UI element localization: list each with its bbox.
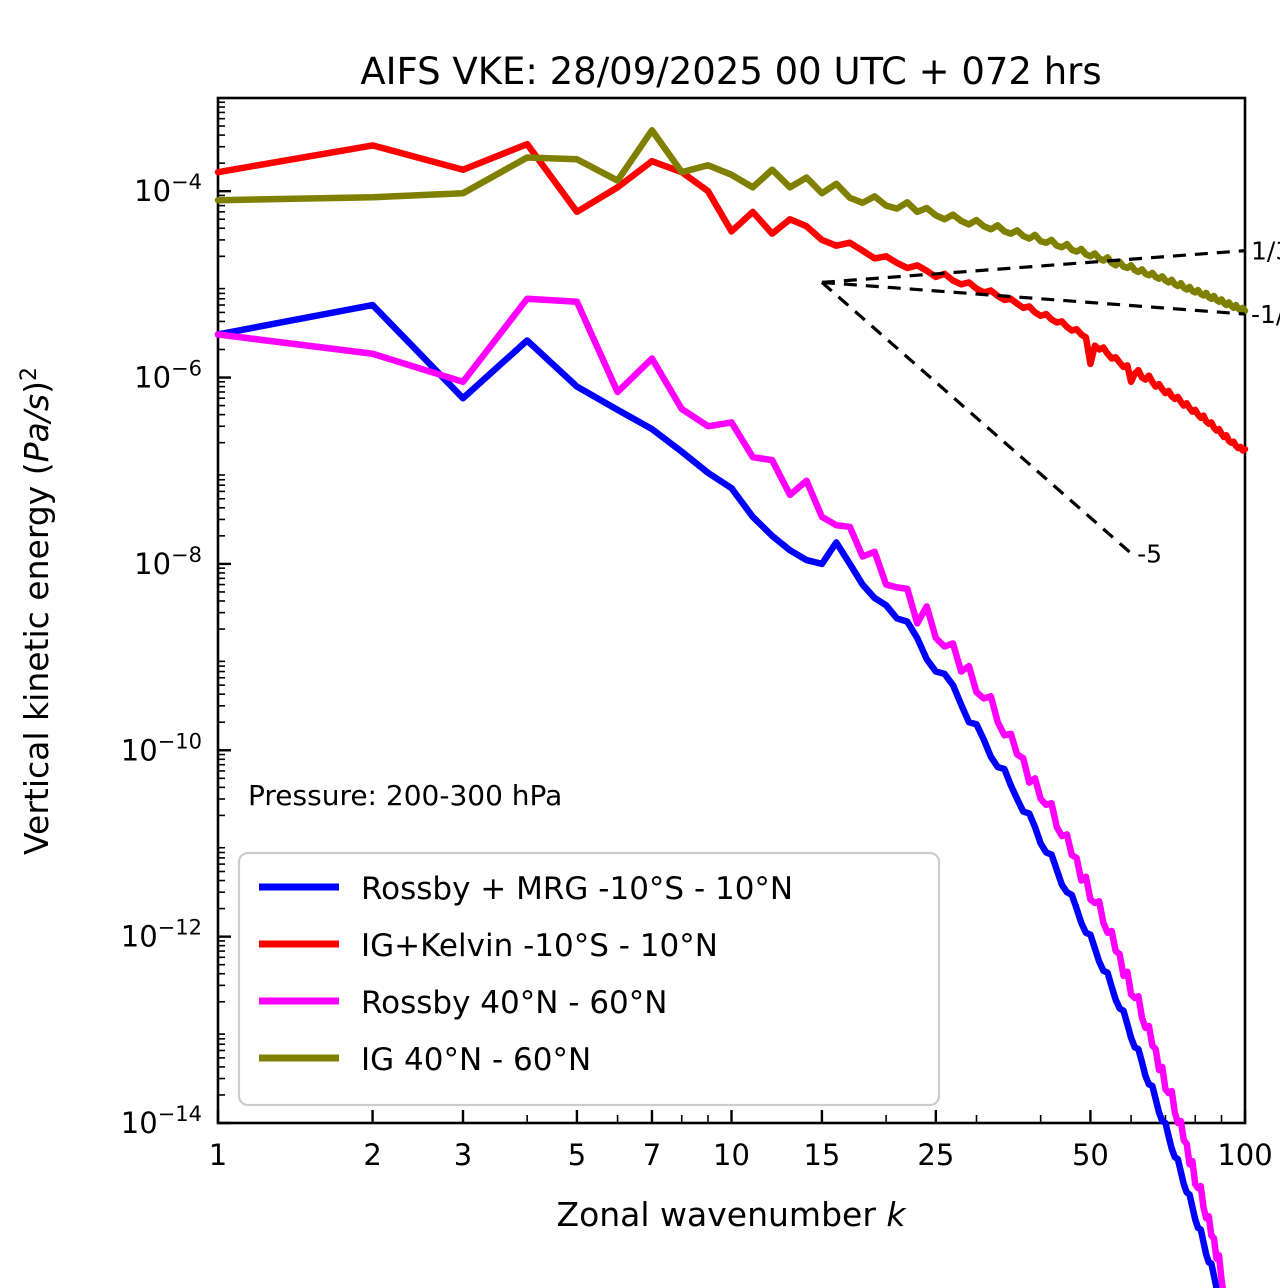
chart-title: AIFS VKE: 28/09/2025 00 UTC + 072 hrs <box>360 50 1101 93</box>
legend-label-3[interactable]: IG 40°N - 60°N <box>361 1042 591 1078</box>
x-tick-label: 3 <box>454 1138 472 1172</box>
pressure-annotation: Pressure: 200-300 hPa <box>248 779 562 812</box>
x-tick-label: 1 <box>209 1138 227 1172</box>
vke-spectrum-chart: AIFS VKE: 28/09/2025 00 UTC + 072 hrs 10… <box>0 0 1280 1288</box>
y-axis-label: Vertical kinetic energy (Pa/s)2 <box>17 367 57 855</box>
legend[interactable]: Rossby + MRG -10°S - 10°NIG+Kelvin -10°S… <box>239 853 939 1105</box>
x-axis-label: Zonal wavenumber k <box>556 1195 907 1234</box>
x-tick-label: 5 <box>568 1138 586 1172</box>
x-tick-label: 15 <box>803 1138 840 1172</box>
x-tick-label: 10 <box>713 1138 750 1172</box>
slope-label-2: -5 <box>1137 539 1162 568</box>
legend-label-1[interactable]: IG+Kelvin -10°S - 10°N <box>361 928 718 964</box>
x-tick-label: 100 <box>1217 1138 1272 1172</box>
legend-label-0[interactable]: Rossby + MRG -10°S - 10°N <box>361 871 793 907</box>
x-tick-label: 2 <box>363 1138 381 1172</box>
x-tick-label: 50 <box>1072 1138 1109 1172</box>
figure-root: AIFS VKE: 28/09/2025 00 UTC + 072 hrs 10… <box>0 0 1280 1288</box>
x-tick-label: 25 <box>917 1138 954 1172</box>
x-tick-label: 7 <box>643 1138 661 1172</box>
slope-label-0: 1/3 <box>1251 237 1280 266</box>
legend-label-2[interactable]: Rossby 40°N - 60°N <box>361 985 667 1021</box>
slope-label-1: -1/3 <box>1251 300 1280 329</box>
